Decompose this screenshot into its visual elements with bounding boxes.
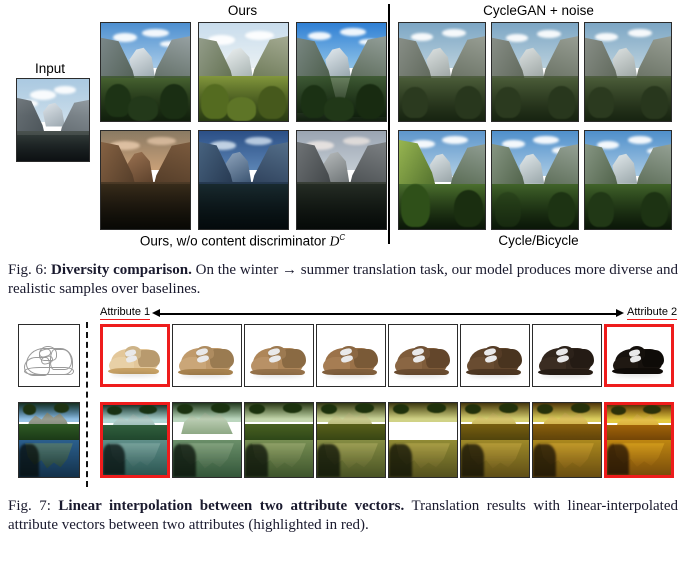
fig7-input-divider bbox=[86, 322, 88, 487]
fig6-input-label: Input bbox=[10, 62, 90, 76]
fig6-footer-ours-no-dc-text: Ours, w/o content discriminator bbox=[140, 234, 330, 249]
fig6-header-cyclegan: CycleGAN + noise bbox=[396, 4, 681, 18]
fig7-shoe-1 bbox=[100, 324, 170, 387]
fig6-image-cyclegan-2 bbox=[491, 22, 579, 122]
fig7-lake-1 bbox=[100, 402, 170, 478]
fig7-lake-3 bbox=[244, 402, 314, 478]
fig6-image-ours-3 bbox=[296, 22, 387, 122]
figure-page: Ours CycleGAN + noise Input bbox=[0, 0, 685, 568]
fig7-input-shoe-sketch bbox=[18, 324, 80, 387]
fig7-attribute-axis: Attribute 1 Attribute 2 bbox=[100, 306, 678, 320]
fig6-caption-prefix: Fig. 6: bbox=[8, 262, 51, 278]
fig6-image-cyclegan-1 bbox=[398, 22, 486, 122]
fig7-caption: Fig. 7: Linear interpolation between two… bbox=[8, 497, 678, 535]
fig6-image-cyclegan-3 bbox=[584, 22, 672, 122]
fig7-shoe-5 bbox=[388, 324, 458, 387]
fig6-footer-ours-no-dc: Ours, w/o content discriminator DC bbox=[100, 234, 385, 248]
fig7-attribute-2-label: Attribute 2 bbox=[627, 306, 677, 320]
fig6-caption: Fig. 6: Diversity comparison. On the win… bbox=[8, 261, 678, 299]
fig6-image-cyclebicycle-3 bbox=[584, 130, 672, 230]
fig6-header-ours: Ours bbox=[100, 4, 385, 18]
fig6-footer-dc-symbol: D bbox=[330, 234, 340, 249]
figure-6: Ours CycleGAN + noise Input bbox=[0, 0, 685, 255]
fig7-attribute-1-label: Attribute 1 bbox=[100, 306, 150, 320]
fig6-footer-dc-superscript: C bbox=[339, 233, 345, 242]
fig7-lake-8 bbox=[604, 402, 674, 478]
fig7-shoe-8 bbox=[604, 324, 674, 387]
fig7-shoe-6 bbox=[460, 324, 530, 387]
fig6-image-nodc-3 bbox=[296, 130, 387, 230]
fig7-caption-bold: Linear interpolation between two attribu… bbox=[58, 498, 404, 514]
fig7-arrow-line bbox=[158, 313, 616, 315]
fig7-arrow-head-right bbox=[616, 309, 624, 317]
fig7-lake-2 bbox=[172, 402, 242, 478]
fig6-input-image bbox=[16, 78, 90, 162]
fig7-lake-7 bbox=[532, 402, 602, 478]
fig7-caption-prefix: Fig. 7: bbox=[8, 498, 58, 514]
fig6-column-divider bbox=[388, 4, 390, 244]
fig7-shoe-2 bbox=[172, 324, 242, 387]
fig6-image-ours-2 bbox=[198, 22, 289, 122]
fig6-image-ours-1 bbox=[100, 22, 191, 122]
figure-7: Attribute 1 Attribute 2 bbox=[0, 302, 685, 490]
fig6-footer-cycle-bicycle: Cycle/Bicycle bbox=[396, 234, 681, 248]
fig6-image-cyclebicycle-1 bbox=[398, 130, 486, 230]
fig6-image-cyclebicycle-2 bbox=[491, 130, 579, 230]
fig6-image-nodc-1 bbox=[100, 130, 191, 230]
fig7-shoe-3 bbox=[244, 324, 314, 387]
fig7-lake-6 bbox=[460, 402, 530, 478]
fig7-lake-5 bbox=[388, 402, 458, 478]
fig7-input-lake bbox=[18, 402, 80, 478]
fig7-lake-4 bbox=[316, 402, 386, 478]
fig7-shoe-4 bbox=[316, 324, 386, 387]
fig6-caption-bold: Diversity comparison. bbox=[51, 262, 192, 278]
fig7-shoe-7 bbox=[532, 324, 602, 387]
fig6-image-nodc-2 bbox=[198, 130, 289, 230]
